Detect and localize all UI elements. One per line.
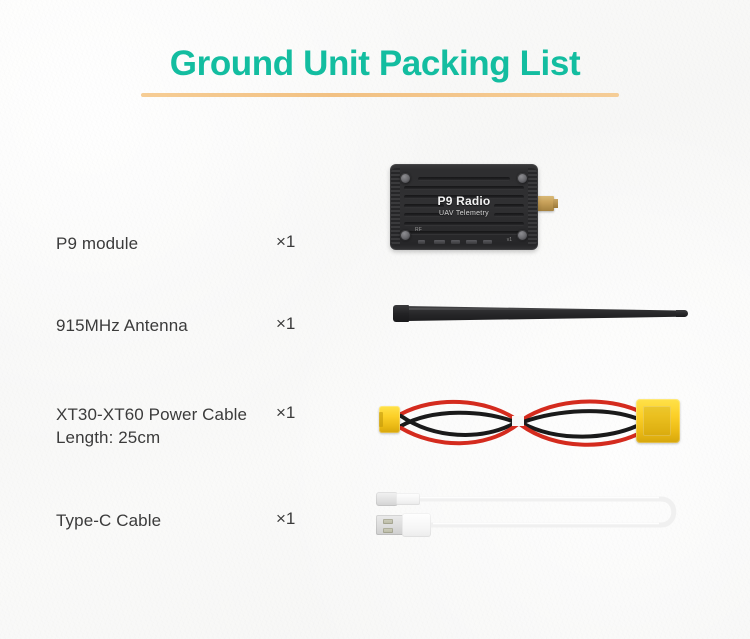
p9-port-strip <box>418 239 496 245</box>
port <box>418 240 425 244</box>
usb-c-connector <box>376 492 398 506</box>
packing-list-page: Ground Unit Packing List P9 module ×1 P9… <box>0 0 750 639</box>
usb-c-connector-housing <box>396 493 420 505</box>
item-quantity-p9-module: ×1 <box>276 232 295 252</box>
screw-top-left-icon <box>400 173 411 184</box>
item-quantity-power-cable: ×1 <box>276 403 295 423</box>
title-underline-rule <box>141 93 619 97</box>
heatsink-fin <box>404 186 524 190</box>
item-label-antenna: 915MHz Antenna <box>56 314 188 337</box>
p9-module-body: P9 Radio UAV Telemetry RF v1 <box>390 164 538 250</box>
heatsink-fin <box>404 204 444 208</box>
heatsink-ribs-right <box>528 168 537 246</box>
product-image-antenna <box>393 300 693 330</box>
xt60-connector-notch <box>643 406 671 436</box>
heatsink-fin <box>494 213 524 217</box>
product-image-power-cable <box>375 390 695 460</box>
antenna-tip <box>676 310 688 317</box>
heatsink-fin <box>404 195 524 199</box>
usb-a-contact-pin <box>383 528 393 533</box>
item-label-power-cable: XT30-XT60 Power Cable <box>56 403 247 426</box>
heatsink-fin <box>494 204 524 208</box>
p9-bottom-left-marking: RF <box>415 227 422 233</box>
heatsink-ribs-left <box>391 168 400 246</box>
port <box>483 240 492 244</box>
port <box>434 240 445 244</box>
item-label-type-c-cable: Type-C Cable <box>56 509 161 532</box>
page-title: Ground Unit Packing List <box>0 44 750 84</box>
port <box>451 240 460 244</box>
antenna-base-connector <box>393 305 409 322</box>
heatsink-fin <box>418 177 510 181</box>
screw-bottom-left-icon <box>400 230 411 241</box>
product-image-type-c-cable <box>375 485 695 547</box>
cable-midpoint-gap <box>512 416 524 426</box>
sma-connector-tip-icon <box>553 199 558 208</box>
heatsink-fin <box>404 213 444 217</box>
port <box>466 240 477 244</box>
usb-a-contact-pin <box>383 519 393 524</box>
screw-top-right-icon <box>517 173 528 184</box>
screw-bottom-right-icon <box>517 230 528 241</box>
heatsink-fin <box>404 222 524 226</box>
item-label-p9-module: P9 module <box>56 232 138 255</box>
item-quantity-type-c-cable: ×1 <box>276 509 295 529</box>
usb-a-connector-housing <box>402 513 431 537</box>
p9-bottom-right-marking: v1 <box>507 237 512 243</box>
item-sublabel-power-cable-length: Length: 25cm <box>56 426 160 449</box>
product-image-p9-module: P9 Radio UAV Telemetry RF v1 <box>390 164 538 250</box>
sma-connector-icon <box>536 196 554 211</box>
item-quantity-antenna: ×1 <box>276 314 295 334</box>
xt30-connector-notch <box>379 412 383 427</box>
